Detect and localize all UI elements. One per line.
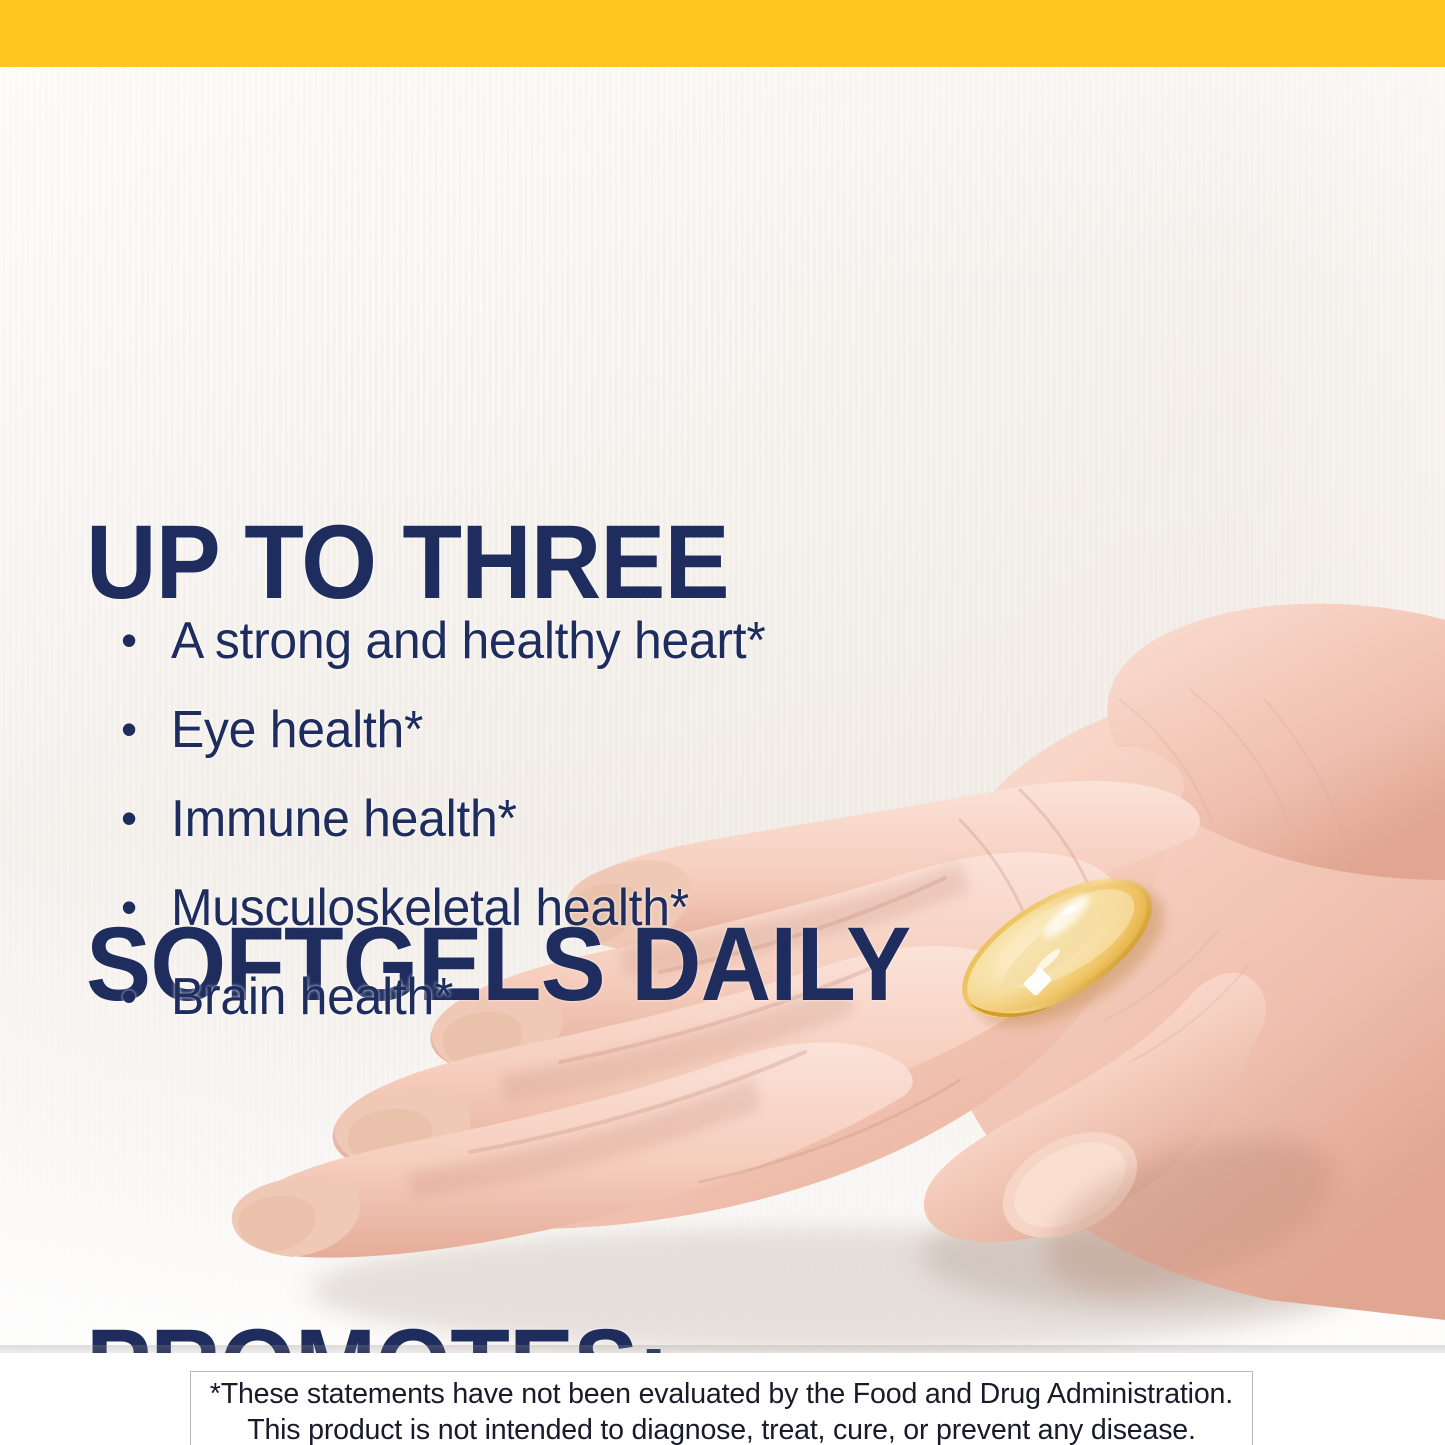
benefit-label: Brain health* [171,968,453,1026]
fda-disclaimer-box: *These statements have not been evaluate… [190,1371,1253,1445]
yellow-top-band [0,0,1445,67]
product-infographic: UP TO THREE SOFTGELS DAILY PROMOTES: • A… [0,0,1445,1445]
list-item: • Musculoskeletal health* [118,879,1018,968]
benefit-label: Eye health* [171,701,423,759]
benefits-list: • A strong and healthy heart* • Eye heal… [118,612,1018,1057]
benefit-label: Musculoskeletal health* [171,879,689,937]
list-item: • Immune health* [118,790,1018,879]
bullet-icon: • [118,612,171,668]
benefit-label: A strong and healthy heart* [171,612,765,670]
headline-line-1: UP TO THREE [86,496,910,630]
benefit-label: Immune health* [171,790,517,848]
bullet-icon: • [118,879,171,935]
disclaimer-area: *These statements have not been evaluate… [0,1353,1445,1445]
list-item: • Eye health* [118,701,1018,790]
list-item: • A strong and healthy heart* [118,612,1018,701]
bullet-icon: • [118,968,171,1024]
disclaimer-line-1: *These statements have not been evaluate… [210,1376,1233,1412]
list-item: • Brain health* [118,968,1018,1057]
disclaimer-line-2: This product is not intended to diagnose… [247,1412,1195,1445]
bullet-icon: • [118,790,171,846]
bullet-icon: • [118,701,171,757]
